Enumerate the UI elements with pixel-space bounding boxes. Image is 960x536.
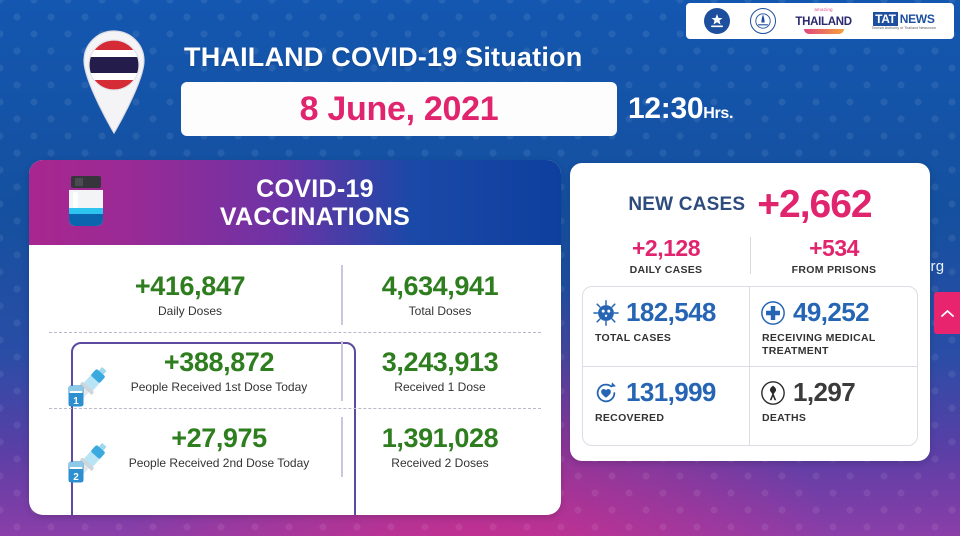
date-box: 8 June, 2021	[181, 82, 617, 136]
prison-cases-label: FROM PRISONS	[750, 264, 918, 276]
tat-news-logo: TAT NEWS Tourism Authority of Thailand N…	[872, 12, 937, 30]
vaccinations-card-header: COVID-19 VACCINATIONS	[29, 160, 561, 245]
received-one-dose-value: 3,243,913	[335, 348, 545, 378]
new-cases-value: +2,662	[757, 183, 871, 227]
report-time: 12:30Hrs.	[628, 92, 733, 126]
second-dose-today-cell: 2 +27,975 People Received 2nd Dose Today	[45, 424, 335, 471]
prison-cases-value: +534	[750, 235, 918, 262]
daily-doses-value: +416,847	[45, 272, 335, 302]
prison-cases-cell: +534 FROM PRISONS	[750, 235, 918, 276]
amazing-thailand-swoosh-icon	[804, 29, 844, 34]
total-doses-label: Total Doses	[335, 304, 545, 318]
syringe-dose-1-icon: 1	[63, 360, 115, 412]
recovered-value: 131,999	[626, 377, 716, 408]
vaccine-vial-icon	[59, 174, 113, 232]
daily-doses-cell: +416,847 Daily Doses	[45, 272, 335, 319]
vaccinations-card: COVID-19 VACCINATIONS +416,847 Daily Dos…	[29, 160, 561, 515]
stats-grid: 182,548 TOTAL CASES 49,252 RECEIVING MED…	[582, 286, 918, 446]
partial-org-text: org	[922, 258, 944, 275]
daily-doses-label: Daily Doses	[45, 304, 335, 318]
treatment-label: RECEIVING MEDICAL TREATMENT	[760, 332, 909, 358]
daily-cases-value: +2,128	[582, 235, 750, 262]
svg-text:2: 2	[73, 472, 79, 483]
vaccinations-heading-line2: VACCINATIONS	[69, 203, 561, 231]
deaths-label: DEATHS	[760, 412, 909, 425]
medical-cross-icon	[760, 300, 786, 326]
second-dose-today-label: People Received 2nd Dose Today	[103, 456, 335, 470]
daily-cases-cell: +2,128 DAILY CASES	[582, 235, 750, 276]
amazing-thailand-small-text: amazing	[795, 8, 851, 13]
received-one-dose-cell: 3,243,913 Received 1 Dose	[335, 348, 545, 395]
tat-seal-icon	[750, 8, 776, 34]
received-two-doses-value: 1,391,028	[335, 424, 545, 454]
treatment-value: 49,252	[793, 297, 869, 328]
new-cases-breakdown: +2,128 DAILY CASES +534 FROM PRISONS	[582, 235, 918, 276]
syringe-dose-2-icon: 2	[63, 436, 115, 488]
tat-news-subtitle: Tourism Authority of Thailand Newsroom	[872, 27, 937, 30]
received-two-doses-label: Received 2 Doses	[335, 456, 545, 470]
report-date: 8 June, 2021	[300, 90, 499, 129]
first-dose-today-label: People Received 1st Dose Today	[103, 380, 335, 394]
total-cases-label: TOTAL CASES	[593, 332, 741, 345]
chevron-up-icon	[941, 309, 954, 318]
vaccinations-card-body: +416,847 Daily Doses 4,634,941 Total Dos…	[29, 245, 561, 515]
vaccinations-heading-line1: COVID-19	[69, 175, 561, 203]
partner-logo-bar: amazing THAILAND TAT NEWS Tourism Author…	[686, 3, 954, 39]
recovered-heart-icon	[593, 380, 619, 406]
deaths-cell: 1,297 DEATHS	[750, 367, 917, 445]
svg-text:1: 1	[73, 396, 79, 407]
page-title: THAILAND COVID-19 Situation	[184, 42, 582, 73]
daily-cases-label: DAILY CASES	[582, 264, 750, 276]
black-ribbon-icon	[760, 380, 786, 406]
new-cases-label: NEW CASES	[628, 194, 745, 216]
first-dose-today-cell: 1 +388,872 People Received 1st Dose Toda…	[45, 348, 335, 395]
tat-news-news-text: NEWS	[900, 13, 935, 25]
recovered-cell: 131,999 RECOVERED	[583, 367, 750, 445]
received-one-dose-label: Received 1 Dose	[335, 380, 545, 394]
deaths-value: 1,297	[793, 377, 855, 408]
second-dose-today-value: +27,975	[103, 424, 335, 454]
vaccination-row: 2 +27,975 People Received 2nd Dose Today…	[45, 409, 545, 485]
total-cases-value: 182,548	[626, 297, 716, 328]
new-cases-row: NEW CASES +2,662	[582, 183, 918, 227]
recovered-label: RECOVERED	[593, 412, 741, 425]
breakdown-separator	[750, 237, 751, 274]
total-doses-value: 4,634,941	[335, 272, 545, 302]
ministry-seal-icon	[704, 8, 730, 34]
case-stats-card: NEW CASES +2,662 +2,128 DAILY CASES +534…	[570, 163, 930, 461]
total-cases-cell: 182,548 TOTAL CASES	[583, 287, 750, 367]
report-time-value: 12:30	[628, 92, 703, 125]
tat-news-tat-text: TAT	[873, 12, 898, 26]
amazing-thailand-big-text: THAILAND	[795, 16, 851, 28]
treatment-cell: 49,252 RECEIVING MEDICAL TREATMENT	[750, 287, 917, 367]
scroll-to-top-button[interactable]	[934, 292, 960, 334]
vaccination-row: 1 +388,872 People Received 1st Dose Toda…	[45, 333, 545, 409]
report-time-unit: Hrs.	[703, 105, 733, 122]
first-dose-today-value: +388,872	[103, 348, 335, 378]
received-two-doses-cell: 1,391,028 Received 2 Doses	[335, 424, 545, 471]
thailand-flag-map-pin-icon	[79, 28, 149, 136]
amazing-thailand-logo: amazing THAILAND	[795, 8, 851, 34]
total-doses-cell: 4,634,941 Total Doses	[335, 272, 545, 319]
vaccination-row: +416,847 Daily Doses 4,634,941 Total Dos…	[45, 257, 545, 333]
virus-icon	[593, 300, 619, 326]
